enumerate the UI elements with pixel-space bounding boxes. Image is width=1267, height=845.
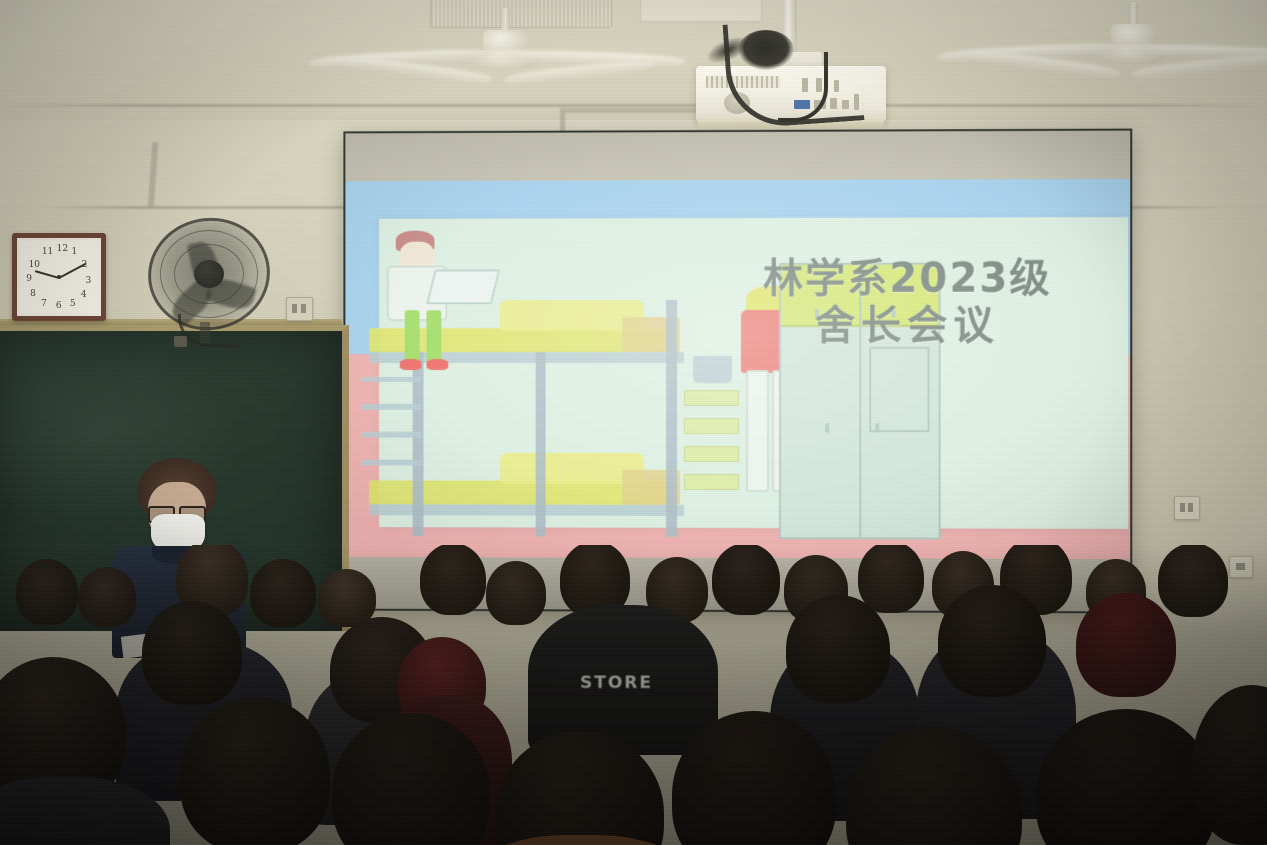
- projection-screen: 林学系2023级 舍长会议: [343, 129, 1132, 614]
- clock-numeral: 12: [57, 244, 68, 254]
- seated-students: STORE: [0, 545, 1267, 845]
- student-head-red-hair: [1076, 593, 1176, 697]
- student-head: [78, 567, 136, 627]
- shelf-level: [684, 390, 739, 406]
- ladder-rung: [361, 404, 422, 410]
- ceiling-fan-left: [460, 8, 550, 78]
- student-laptop-leg: [426, 311, 441, 363]
- student-head: [938, 585, 1046, 697]
- slide-title-line-2: 舍长会议: [726, 302, 1089, 350]
- student-head: [142, 601, 242, 705]
- screen-inactive-band-top: [345, 131, 1130, 182]
- clock-numeral: 8: [30, 289, 36, 299]
- clock-center-pin: [57, 275, 61, 279]
- shelf-level: [684, 446, 739, 462]
- bunk-post-right: [666, 300, 677, 536]
- wardrobe-handle: [825, 423, 829, 433]
- ladder-rung: [361, 377, 422, 383]
- clock-numeral: 9: [26, 274, 32, 284]
- clock-numeral: 3: [86, 276, 92, 286]
- shelf-level: [684, 474, 739, 490]
- wardrobe-mirror-panel: [869, 347, 930, 433]
- slide-title: 林学系2023级 舍长会议: [726, 255, 1089, 350]
- clock-numeral: 5: [70, 299, 76, 309]
- bunk-post-mid: [535, 352, 545, 536]
- student-head: [712, 545, 780, 615]
- student-head-foreground: [1192, 685, 1267, 845]
- wall-mounted-fan: [148, 218, 270, 330]
- student-head: [250, 559, 316, 627]
- clock-numeral: 11: [42, 247, 53, 257]
- student-head: [786, 595, 890, 703]
- ceiling-fan-right: [1088, 2, 1178, 72]
- clock-numeral: 7: [41, 299, 47, 309]
- clock-numeral: 4: [81, 290, 87, 300]
- student-head: [16, 559, 78, 625]
- student-head: [1158, 545, 1228, 617]
- student-head: [486, 561, 546, 625]
- student-head: [420, 545, 486, 615]
- student-laptop-shoe: [400, 359, 422, 369]
- clock-numeral: 6: [56, 301, 62, 311]
- student-laptop-shoe: [426, 359, 448, 369]
- wall-power-outlet[interactable]: [1174, 496, 1200, 520]
- clock-numeral: 1: [71, 247, 77, 257]
- shelf-level: [684, 418, 739, 434]
- wardrobe-handle: [875, 423, 879, 433]
- bucket: [693, 356, 733, 384]
- ladder-rung: [361, 432, 422, 438]
- student-wardrobe-leg: [746, 370, 769, 492]
- clock-numeral: 10: [29, 260, 40, 270]
- classroom-photo: 林学系2023级 舍长会议 12 1 2 3 4 5 6 7 8 9 10 11: [0, 0, 1267, 845]
- fan-hub: [194, 260, 224, 288]
- wall-clock: 12 1 2 3 4 5 6 7 8 9 10 11: [12, 233, 106, 321]
- student-head-foreground: [180, 697, 330, 845]
- student-head: [858, 545, 924, 613]
- laptop: [426, 269, 500, 304]
- clock-minute-hand: [59, 263, 87, 279]
- clock-face: 12 1 2 3 4 5 6 7 8 9 10 11: [20, 241, 98, 313]
- slide-title-line-1: 林学系2023级: [763, 255, 1052, 302]
- ceiling-projector: [686, 0, 896, 140]
- clock-hour-hand: [35, 270, 60, 279]
- wall-power-outlet[interactable]: [286, 297, 313, 321]
- ladder-rung: [361, 460, 422, 466]
- fan-power-plug: [174, 336, 187, 347]
- student-laptop-leg: [404, 311, 419, 363]
- presentation-slide: 林学系2023级 舍长会议: [345, 179, 1130, 559]
- shirt-graphic-text: STORE: [580, 673, 653, 693]
- ceiling-wall-joint: [0, 104, 1267, 107]
